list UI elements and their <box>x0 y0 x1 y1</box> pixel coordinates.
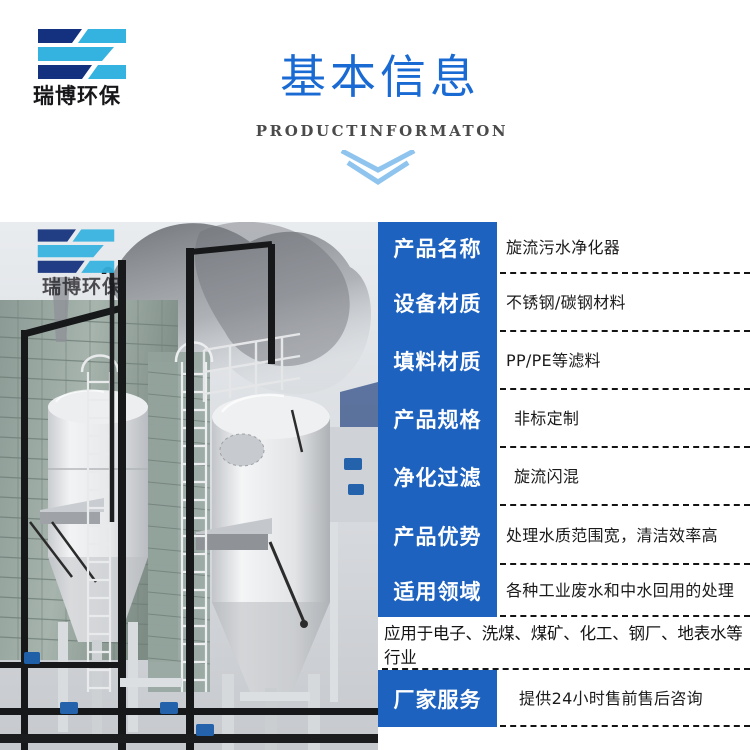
spec-label: 产品规格 <box>378 390 497 448</box>
table-row: 设备材质 不锈钢/碳钢材料 <box>378 274 750 332</box>
page-title: 基本信息 <box>0 54 750 100</box>
page-subtitle: PRODUCTINFORMATON <box>0 122 750 140</box>
title-block: 基本信息 PRODUCTINFORMATON <box>0 0 750 186</box>
row-divider <box>500 725 750 727</box>
spec-label: 适用领域 <box>378 565 497 617</box>
spec-label: 产品名称 <box>378 222 497 274</box>
table-row: 厂家服务 提供24小时售前售后咨询 <box>378 670 750 727</box>
spec-value: 应用于电子、洗煤、煤矿、化工、钢厂、地表水等行业 <box>378 617 750 670</box>
spec-label: 产品优势 <box>378 506 497 565</box>
table-row: 填料材质 PP/PE等滤料 <box>378 332 750 390</box>
table-row: 产品规格 非标定制 <box>378 390 750 448</box>
table-row: 产品名称 旋流污水净化器 <box>378 222 750 274</box>
spec-label: 厂家服务 <box>378 670 497 727</box>
table-row: 净化过滤 旋流闪混 <box>378 448 750 506</box>
photo-watermark: 瑞博环保 <box>22 228 142 297</box>
rb-logo-icon-watermark <box>36 228 116 276</box>
spec-value: 不锈钢/碳钢材料 <box>497 293 626 312</box>
spec-value: 提供24小时售前售后咨询 <box>497 689 703 708</box>
table-row: 适用领域 各种工业废水和中水回用的处理 <box>378 565 750 617</box>
spec-label: 净化过滤 <box>378 448 497 506</box>
spec-label: 填料材质 <box>378 332 497 390</box>
spec-value: 旋流污水净化器 <box>497 238 620 257</box>
spec-value: 旋流闪混 <box>497 467 579 486</box>
table-row: 产品优势 处理水质范围宽，清洁效率高 <box>378 506 750 565</box>
table-row-fullwidth: 应用于电子、洗煤、煤矿、化工、钢厂、地表水等行业 <box>378 617 750 670</box>
spec-value: 各种工业废水和中水回用的处理 <box>497 581 734 600</box>
watermark-brand-name: 瑞博环保 <box>22 278 142 297</box>
spec-value: PP/PE等滤料 <box>497 351 601 370</box>
page-header: 瑞博环保 基本信息 PRODUCTINFORMATON <box>0 0 750 222</box>
spec-value: 非标定制 <box>497 409 579 428</box>
spec-value: 处理水质范围宽，清洁效率高 <box>497 526 718 545</box>
photo-illustration <box>0 222 378 750</box>
product-photo: 瑞博环保 <box>0 222 378 750</box>
spec-label: 设备材质 <box>378 274 497 332</box>
double-chevron-down-icon <box>0 150 750 186</box>
spec-table: 产品名称 旋流污水净化器 设备材质 不锈钢/碳钢材料 填料材质 PP/PE等滤料… <box>378 222 750 750</box>
